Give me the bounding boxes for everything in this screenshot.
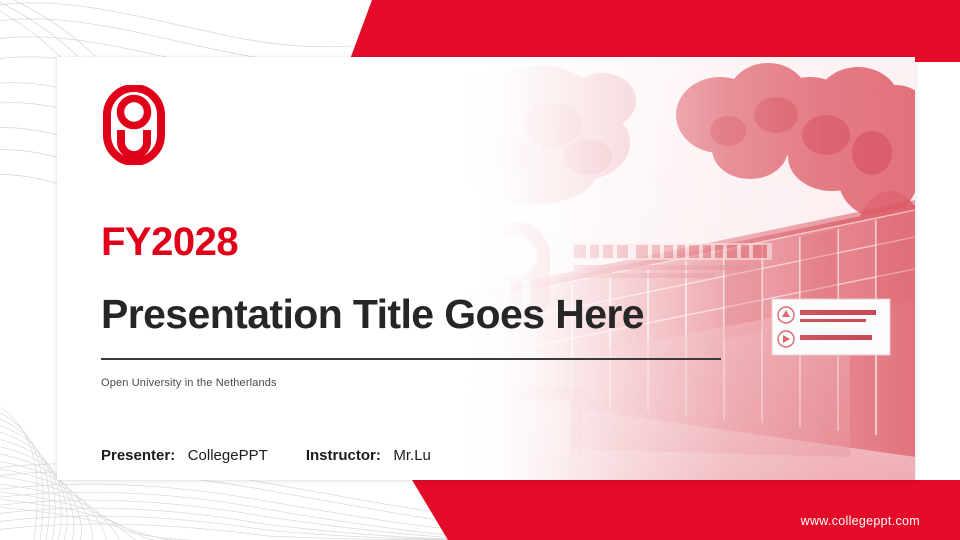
instructor-label: Instructor: xyxy=(306,447,381,464)
presenter-label: Presenter: xyxy=(101,447,175,464)
title-divider xyxy=(101,358,721,360)
instructor-value: Mr.Lu xyxy=(393,447,431,464)
presentation-slide: www.collegeppt.com xyxy=(0,0,960,540)
top-red-banner xyxy=(0,0,960,62)
footer-url[interactable]: www.collegeppt.com xyxy=(801,514,920,528)
credits-line: Presenter: CollegePPT Instructor: Mr.Lu xyxy=(101,447,431,464)
card-content: FY2028 Presentation Title Goes Here Open… xyxy=(57,57,915,480)
page-title: Presentation Title Goes Here xyxy=(101,294,644,335)
open-universiteit-logo-icon xyxy=(103,85,165,165)
bottom-red-banner xyxy=(0,480,960,540)
fiscal-year-heading: FY2028 xyxy=(101,222,238,262)
subtitle: Open University in the Netherlands xyxy=(101,377,277,389)
presenter-value: CollegePPT xyxy=(188,447,268,464)
slide-card: FY2028 Presentation Title Goes Here Open… xyxy=(57,57,915,480)
